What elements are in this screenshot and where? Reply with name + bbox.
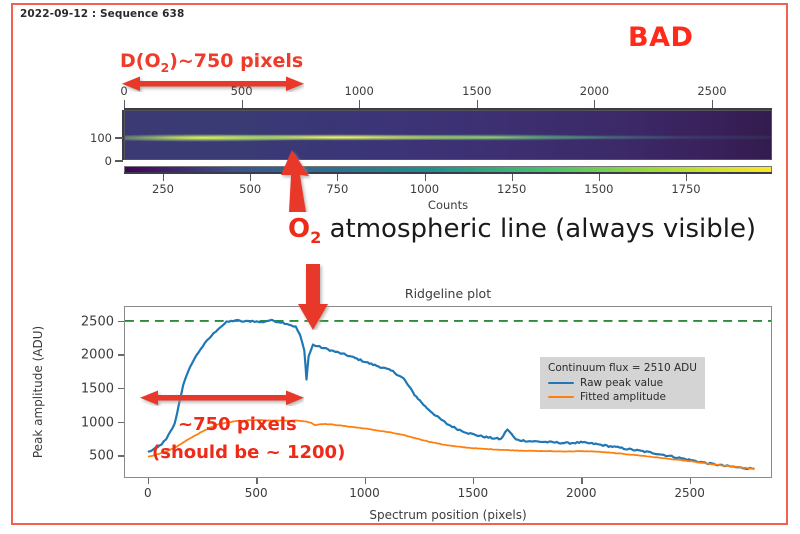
spectrum-bottom-tick — [425, 174, 426, 181]
ridgeline-y-tick — [118, 321, 124, 323]
span-750-double-arrow-icon — [140, 390, 304, 406]
spectrum-top-tick-label: 2500 — [697, 84, 726, 98]
spectrum-top-tick-label: 1500 — [462, 84, 491, 98]
ridgeline-y-tick — [118, 455, 124, 457]
spectrum-y-tick — [115, 137, 123, 139]
ridgeline-x-tick — [690, 478, 692, 484]
spectrum-y-axis — [122, 110, 124, 160]
ridgeline-x-tick-label: 2500 — [674, 486, 705, 500]
spectrum-xaxis-label: Counts — [428, 198, 468, 212]
spectrum-top-tick — [242, 100, 243, 108]
ridgeline-y-tick-label: 2000 — [81, 348, 114, 363]
legend-item-raw-peak: Raw peak value — [548, 377, 697, 389]
ridgeline-x-tick — [148, 478, 150, 484]
o2-atmospheric-line-label: O2 atmospheric line (always visible) — [288, 214, 756, 247]
spectrum-top-tick — [124, 100, 125, 108]
ridgeline-x-tick — [365, 478, 367, 484]
spectrum-top-tick-label: 2000 — [580, 84, 609, 98]
spectrum-bottom-tick-label: 500 — [239, 182, 261, 196]
legend-swatch-raw-peak — [548, 382, 574, 385]
spectrum-y-tick-label: 100 — [90, 131, 112, 145]
ridgeline-y-tick-label: 2500 — [81, 314, 114, 329]
spectrum-bottom-tick-label: 1000 — [410, 182, 439, 196]
spectrum-top-tick-label: 500 — [231, 84, 253, 98]
d-o2-annotation-label: D(O2)~750 pixels — [120, 50, 303, 75]
legend-item-fitted-amplitude: Fitted amplitude — [548, 391, 697, 403]
spectrum-y-tick-label: 0 — [105, 154, 112, 168]
ridgeline-y-tick — [118, 354, 124, 356]
spectrum-y-tick — [115, 160, 123, 162]
spectrum-bottom-tick — [512, 174, 513, 181]
spectrum-bottom-tick-label: 1250 — [497, 182, 526, 196]
ridgeline-x-tick-label: 1000 — [349, 486, 380, 500]
span-750-label: ~750 pixels — [178, 414, 297, 435]
legend-label-raw-peak: Raw peak value — [580, 377, 663, 389]
slide-canvas: 2022-09-12 : Sequence 638 BAD Counts D(O… — [0, 0, 800, 534]
spectrum-bottom-tick — [337, 174, 338, 181]
spectrum-bottom-tick — [686, 174, 687, 181]
spectrum-top-tick-label: 1000 — [345, 84, 374, 98]
spectrum-top-tick — [359, 100, 360, 108]
spectrum-bottom-tick-label: 1500 — [584, 182, 613, 196]
ridgeline-x-tick-label: 0 — [144, 486, 152, 500]
legend-swatch-fitted-amplitude — [548, 396, 574, 399]
ridgeline-x-tick — [581, 478, 583, 484]
ridgeline-x-tick — [256, 478, 258, 484]
o2-symbol: O2 — [288, 214, 321, 244]
ridgeline-plot-title: Ridgeline plot — [405, 286, 491, 301]
sequence-header-label: 2022-09-12 : Sequence 638 — [20, 8, 184, 20]
ridgeline-y-tick-label: 1000 — [81, 415, 114, 430]
spectrum-bottom-tick — [250, 174, 251, 181]
spectrum-bottom-tick — [163, 174, 164, 181]
legend-title: Continuum flux = 2510 ADU — [548, 362, 697, 374]
ridgeline-x-tick-label: 2000 — [566, 486, 597, 500]
o2-up-arrow-icon — [276, 150, 316, 212]
ridgeline-x-tick — [473, 478, 475, 484]
2d-spectrum-heatmap — [124, 110, 772, 160]
ridgeline-x-axis-label: Spectrum position (pixels) — [369, 508, 526, 522]
ridgeline-legend: Continuum flux = 2510 ADU Raw peak value… — [540, 357, 705, 409]
spectrum-image-panel — [124, 110, 772, 160]
o2-description-text: atmospheric line (always visible) — [321, 214, 756, 244]
spectrum-bottom-tick-label: 750 — [326, 182, 348, 196]
spectrum-bottom-tick — [599, 174, 600, 181]
spectrum-top-tick — [712, 100, 713, 108]
spectrum-bottom-axis — [124, 172, 772, 174]
ridgeline-y-tick-label: 1500 — [81, 381, 114, 396]
status-badge-bad: BAD — [628, 22, 693, 53]
ridgeline-x-tick-label: 1500 — [458, 486, 489, 500]
o2-dip-down-arrow-icon — [296, 264, 330, 330]
legend-label-fitted-amplitude: Fitted amplitude — [580, 391, 666, 403]
should-be-label: (should be ~ 1200) — [152, 442, 345, 463]
spectrum-top-tick-label: 0 — [120, 84, 127, 98]
ridgeline-x-tick-label: 500 — [245, 486, 268, 500]
ridgeline-y-tick — [118, 388, 124, 390]
d-o2-double-arrow-icon — [122, 76, 304, 92]
spectrum-top-axis — [124, 108, 772, 110]
ridgeline-y-tick-label: 500 — [89, 449, 114, 464]
spectrum-top-tick — [477, 100, 478, 108]
ridgeline-y-tick — [118, 422, 124, 424]
spectrum-bottom-tick-label: 1750 — [671, 182, 700, 196]
spectrum-top-tick — [594, 100, 595, 108]
ridgeline-y-axis-label: Peak amplitude (ADU) — [31, 326, 45, 458]
spectrum-bottom-tick-label: 250 — [152, 182, 174, 196]
